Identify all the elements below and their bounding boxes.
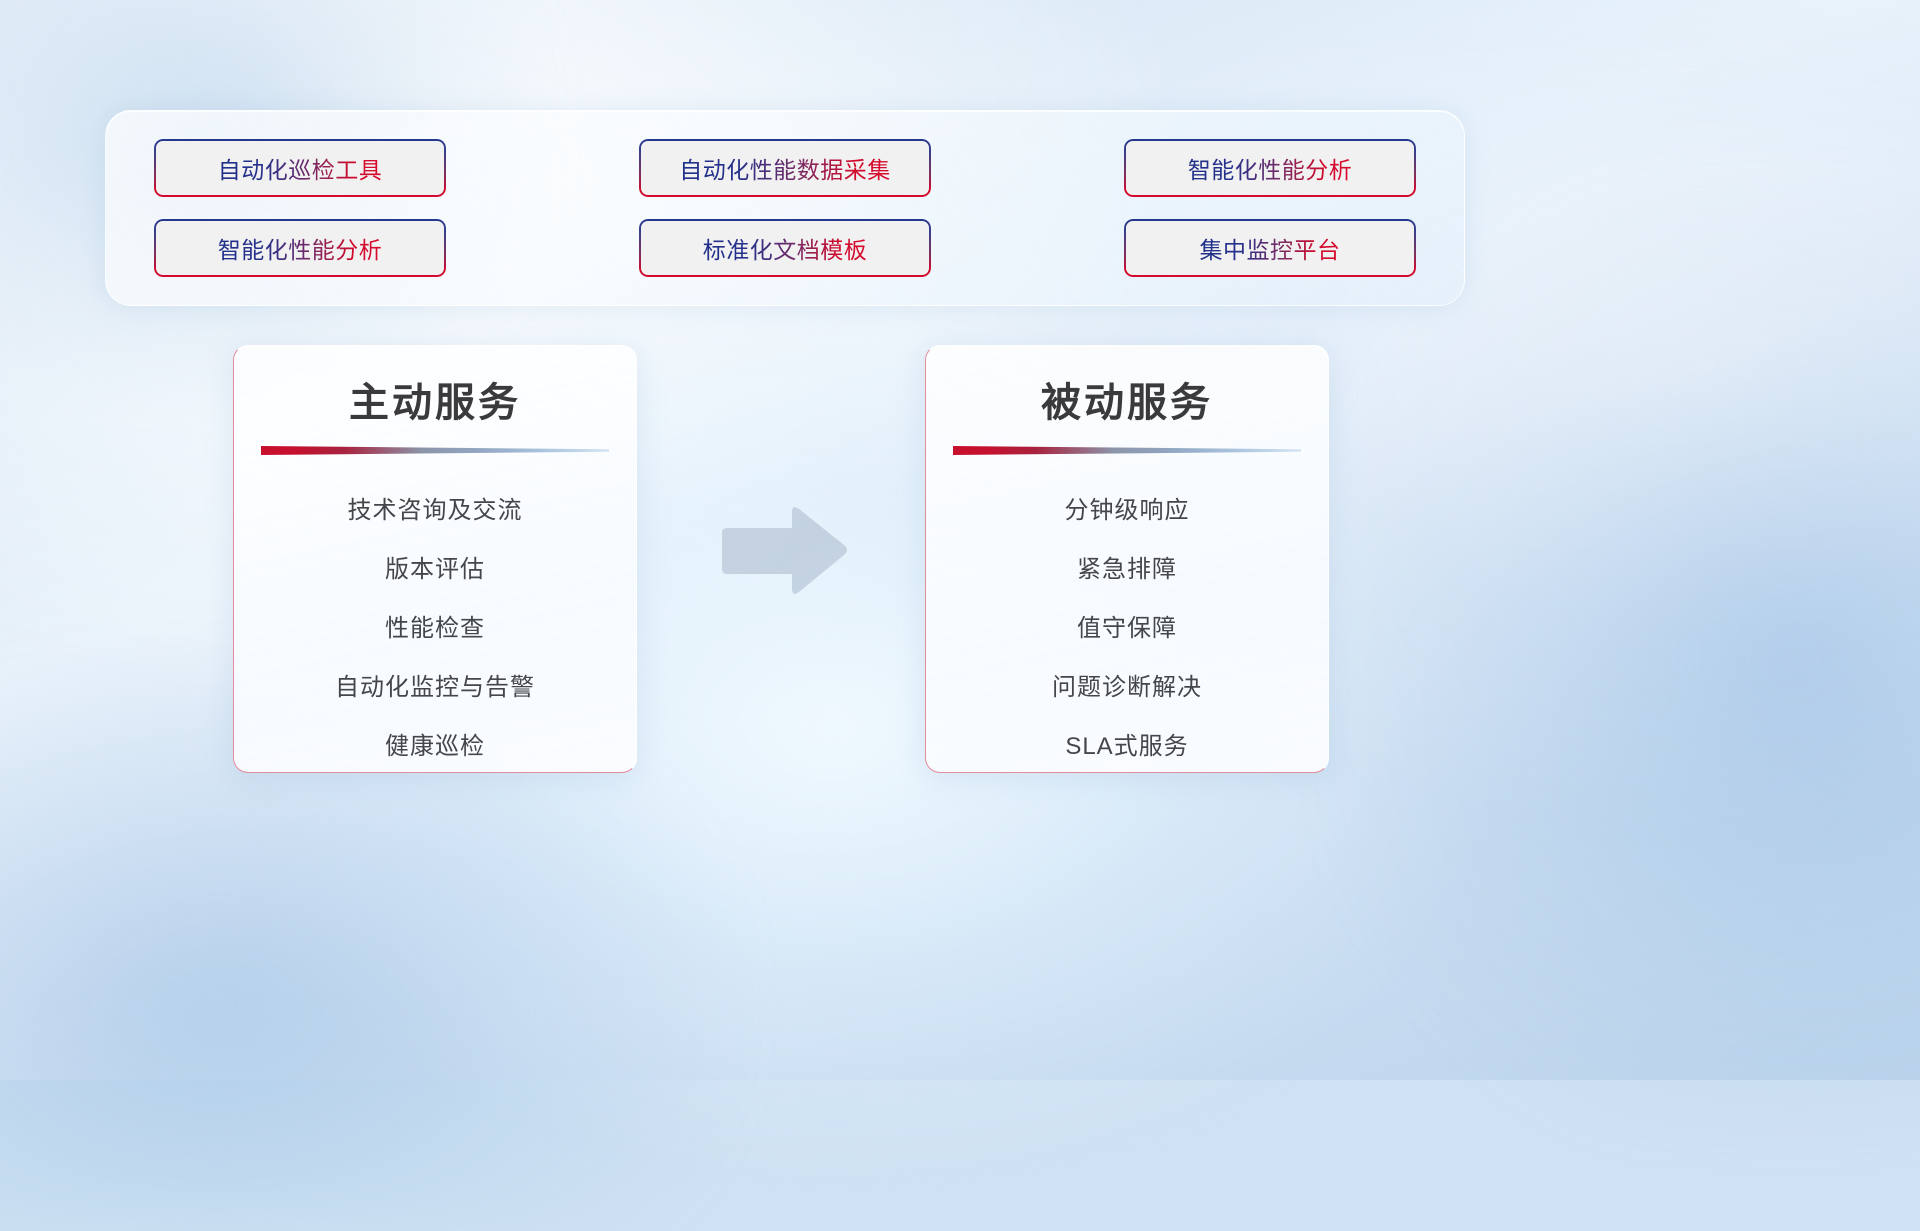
capability-panel: 自动化巡检工具 自动化性能数据采集 智能化性能分析 智能化性能分析 标准化文档模… — [105, 110, 1465, 306]
capability-pill-label: 智能化性能分析 — [218, 231, 383, 265]
card-title: 主动服务 — [234, 370, 636, 428]
card-divider-gradient-bar — [953, 444, 1301, 455]
capability-pill-standardized-document-template[interactable]: 标准化文档模板 — [639, 219, 931, 277]
capability-pill-intelligent-performance-analysis-top[interactable]: 智能化性能分析 — [1124, 139, 1416, 197]
list-item: 自动化监控与告警 — [335, 658, 535, 717]
capability-pill-automated-performance-data-collection[interactable]: 自动化性能数据采集 — [639, 139, 931, 197]
capability-pill-label: 集中监控平台 — [1200, 231, 1341, 265]
capability-row-2: 智能化性能分析 标准化文档模板 集中监控平台 — [154, 219, 1416, 277]
list-item: 技术咨询及交流 — [348, 481, 523, 540]
card-item-list: 分钟级响应 紧急排障 值守保障 问题诊断解决 SLA式服务 — [926, 481, 1328, 773]
capability-pill-intelligent-performance-analysis[interactable]: 智能化性能分析 — [154, 219, 446, 277]
capability-row-1: 自动化巡检工具 自动化性能数据采集 智能化性能分析 — [154, 139, 1416, 197]
list-item: 健康巡检 — [385, 717, 485, 773]
service-card-proactive: 主动服务 技术咨询及交流 版本评估 性能检查 自动化监控与告警 健康巡检 — [233, 345, 637, 773]
list-item: 问题诊断解决 — [1052, 658, 1202, 717]
service-card-reactive: 被动服务 分钟级响应 紧急排障 值守保障 问题诊断解决 SLA式服务 — [925, 345, 1329, 773]
list-item: 性能检查 — [385, 599, 485, 658]
capability-pill-label: 自动化巡检工具 — [218, 151, 383, 185]
capability-pill-automated-inspection-tool[interactable]: 自动化巡检工具 — [154, 139, 446, 197]
capability-pill-label: 智能化性能分析 — [1188, 151, 1353, 185]
list-item: SLA式服务 — [1065, 717, 1188, 773]
list-item: 分钟级响应 — [1065, 481, 1190, 540]
background-tint-right — [1344, 194, 1920, 1123]
card-item-list: 技术咨询及交流 版本评估 性能检查 自动化监控与告警 健康巡检 — [234, 481, 636, 773]
list-item: 版本评估 — [385, 540, 485, 599]
list-item: 值守保障 — [1077, 599, 1177, 658]
card-divider-gradient-bar — [261, 444, 609, 455]
capability-pill-centralized-monitoring-platform[interactable]: 集中监控平台 — [1124, 219, 1416, 277]
capability-pill-label: 自动化性能数据采集 — [679, 151, 891, 185]
card-divider — [261, 444, 609, 455]
capability-pill-label: 标准化文档模板 — [703, 231, 868, 265]
arrow-right-icon — [716, 503, 850, 599]
list-item: 紧急排障 — [1077, 540, 1177, 599]
card-title: 被动服务 — [926, 370, 1328, 428]
card-divider — [953, 444, 1301, 455]
